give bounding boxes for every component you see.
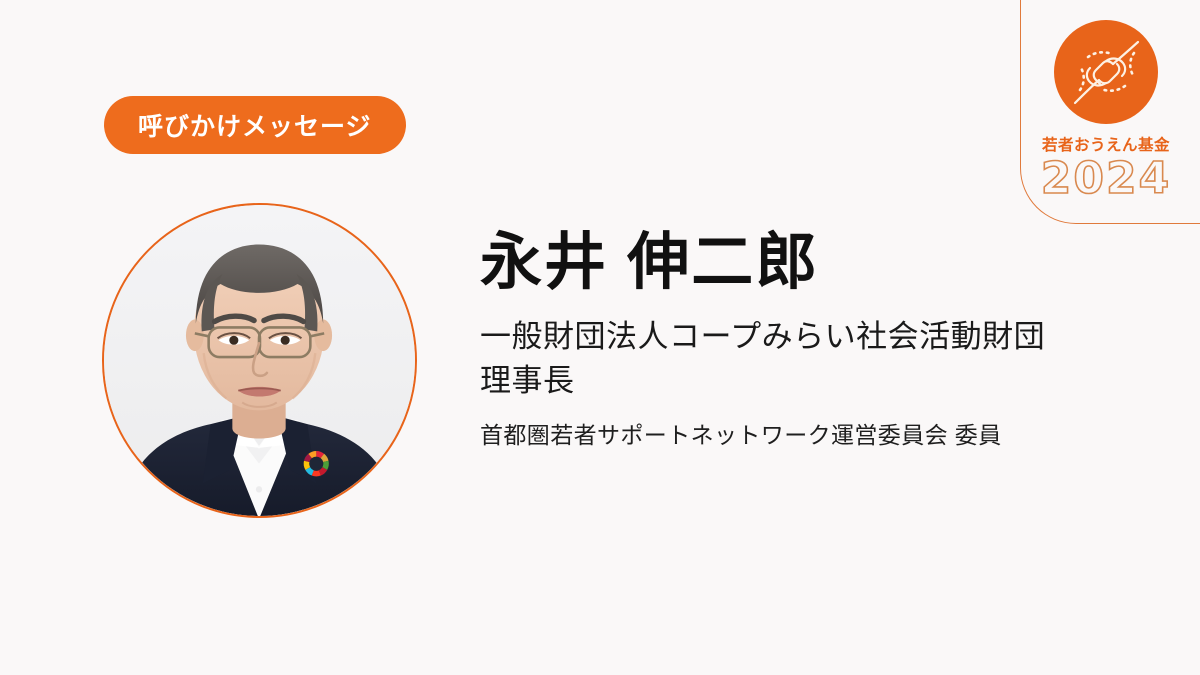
portrait-avatar xyxy=(102,203,417,518)
organization-line-1: 一般財団法人コープみらい社会活動財団 xyxy=(480,315,1180,359)
organization-line-2: 理事長 xyxy=(480,359,1180,403)
fund-logo: 若者おうえん基金 2024 xyxy=(1024,20,1188,201)
fund-name-label: 若者おうえん基金 xyxy=(1042,133,1170,155)
message-category-badge: 呼びかけメッセージ xyxy=(104,96,406,154)
person-name: 永井 伸二郎 xyxy=(480,228,1180,297)
speaker-info: 永井 伸二郎 一般財団法人コープみらい社会活動財団 理事長 首都圏若者サポートネ… xyxy=(480,228,1180,452)
fund-year-label: 2024 xyxy=(1041,157,1171,201)
organization-block: 一般財団法人コープみらい社会活動財団 理事長 xyxy=(480,315,1180,403)
clasped-hands-icon xyxy=(1054,20,1158,124)
sdgs-pin-icon xyxy=(303,450,330,477)
committee-role: 首都圏若者サポートネットワーク運営委員会 委員 xyxy=(480,419,1180,451)
slide-canvas: 若者おうえん基金 2024 呼びかけメッセージ xyxy=(0,0,1200,675)
